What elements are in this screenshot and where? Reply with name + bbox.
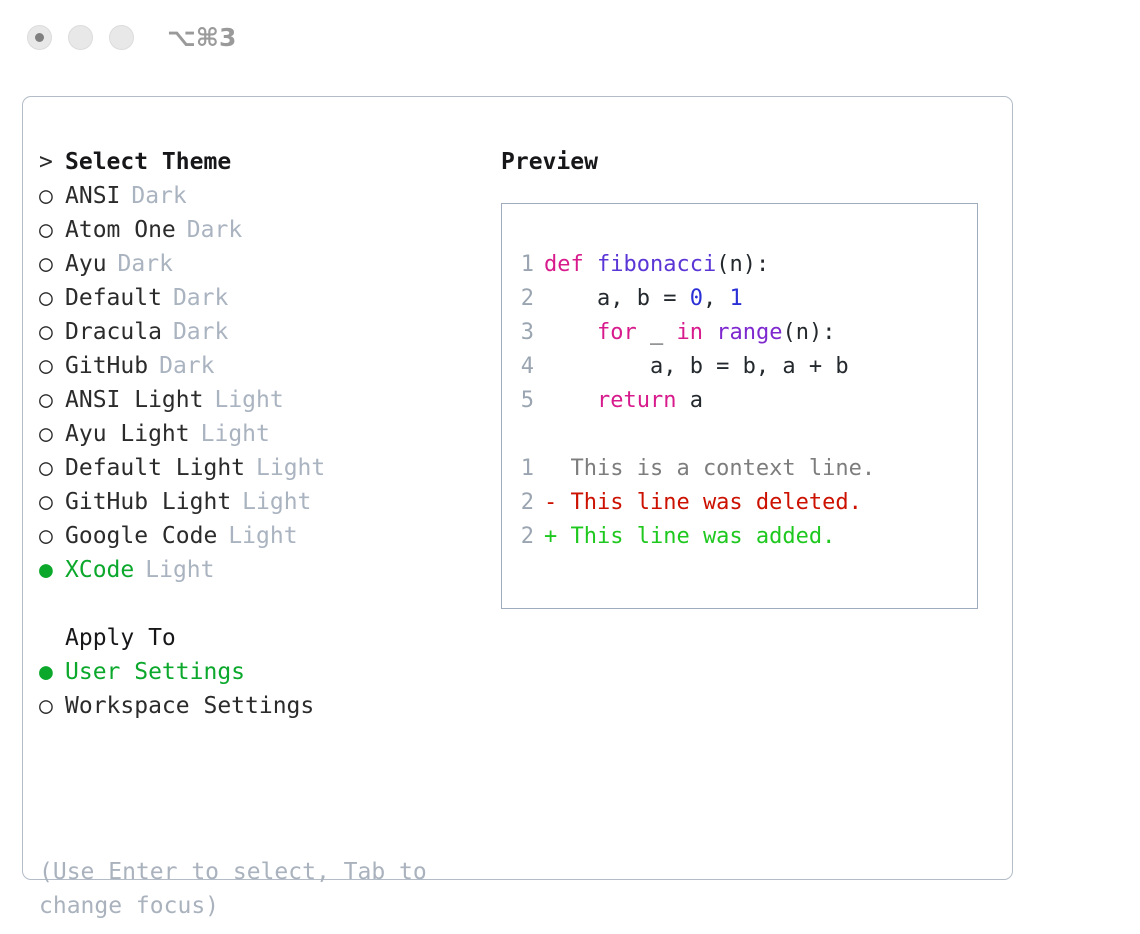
code-token: for bbox=[597, 320, 637, 345]
code-token: + This line was added. bbox=[544, 524, 835, 549]
line-number: 3 bbox=[502, 316, 544, 350]
theme-list-item[interactable]: ○ANSI LightLight bbox=[39, 383, 489, 417]
code-line: 1def fibonacci(n): bbox=[502, 248, 977, 282]
code-token: a bbox=[676, 388, 703, 413]
radio-unselected-icon[interactable]: ○ bbox=[39, 383, 65, 417]
code-token: , bbox=[703, 286, 730, 311]
code-line-text: def fibonacci(n): bbox=[544, 248, 769, 282]
code-line-text: for _ in range(n): bbox=[544, 316, 835, 350]
theme-variant-tag: Dark bbox=[187, 213, 242, 247]
apply-to-heading: Apply To bbox=[65, 621, 176, 655]
code-token: def bbox=[544, 252, 584, 277]
theme-variant-tag: Light bbox=[228, 519, 297, 553]
radio-unselected-icon[interactable]: ○ bbox=[39, 349, 65, 383]
theme-name-label: Default Light bbox=[65, 451, 245, 485]
code-line: 4 a, b = b, a + b bbox=[502, 350, 977, 384]
theme-name-label: ANSI bbox=[65, 179, 120, 213]
preview-column: Preview bbox=[501, 145, 598, 179]
theme-variant-tag: Light bbox=[242, 485, 311, 519]
theme-list-item[interactable]: ○GitHub LightLight bbox=[39, 485, 489, 519]
radio-unselected-icon[interactable]: ○ bbox=[39, 519, 65, 553]
theme-list-item[interactable]: ○DefaultDark bbox=[39, 281, 489, 315]
code-token: (n): bbox=[716, 252, 769, 277]
window-dot-third[interactable] bbox=[109, 25, 134, 50]
theme-variant-tag: Dark bbox=[173, 281, 228, 315]
theme-name-label: Ayu bbox=[65, 247, 107, 281]
code-line-text: return a bbox=[544, 384, 703, 418]
code-token: return bbox=[597, 388, 676, 413]
code-token: a, b = b, a + b bbox=[544, 354, 849, 379]
theme-variant-tag: Light bbox=[201, 417, 270, 451]
theme-name-label: XCode bbox=[65, 553, 134, 587]
code-line: 3 for _ in range(n): bbox=[502, 316, 977, 350]
code-line: 5 return a bbox=[502, 384, 977, 418]
code-sample: 1def fibonacci(n):2 a, b = 0, 13 for _ i… bbox=[502, 248, 977, 418]
code-token: in bbox=[676, 320, 703, 345]
code-token: (n): bbox=[782, 320, 835, 345]
code-token: 0 bbox=[690, 286, 703, 311]
code-token: This is a context line. bbox=[544, 456, 875, 481]
theme-variant-tag: Light bbox=[145, 553, 214, 587]
code-token bbox=[544, 388, 597, 413]
radio-selected-icon[interactable]: ● bbox=[39, 655, 65, 689]
code-token: _ bbox=[637, 320, 677, 345]
radio-unselected-icon[interactable]: ○ bbox=[39, 689, 65, 723]
radio-unselected-icon[interactable]: ○ bbox=[39, 315, 65, 349]
theme-variant-tag: Dark bbox=[118, 247, 173, 281]
window-dot-second[interactable] bbox=[68, 25, 93, 50]
theme-variant-tag: Light bbox=[256, 451, 325, 485]
theme-name-label: Ayu Light bbox=[65, 417, 190, 451]
theme-name-label: Google Code bbox=[65, 519, 217, 553]
keyboard-hint: (Use Enter to select, Tab to change focu… bbox=[39, 855, 451, 923]
line-number: 2 bbox=[502, 282, 544, 316]
theme-list-item[interactable]: ○Google CodeLight bbox=[39, 519, 489, 553]
preview-title: Preview bbox=[501, 145, 598, 179]
line-number: 5 bbox=[502, 384, 544, 418]
theme-variant-tag: Dark bbox=[173, 315, 228, 349]
radio-unselected-icon[interactable]: ○ bbox=[39, 451, 65, 485]
apply-to-label: User Settings bbox=[65, 655, 245, 689]
code-token bbox=[703, 320, 716, 345]
theme-selector-column: >Select Theme ○ANSIDark○Atom OneDark○Ayu… bbox=[39, 145, 489, 723]
prompt-caret-icon: > bbox=[39, 145, 65, 179]
code-line-text: + This line was added. bbox=[544, 520, 835, 554]
code-token: fibonacci bbox=[597, 252, 716, 277]
code-line-text: a, b = b, a + b bbox=[544, 350, 849, 384]
diff-sample: 1 This is a context line.2- This line wa… bbox=[502, 452, 977, 554]
theme-name-label: Default bbox=[65, 281, 162, 315]
radio-unselected-icon[interactable]: ○ bbox=[39, 485, 65, 519]
keyboard-shortcut-label: ⌥⌘3 bbox=[167, 23, 236, 52]
theme-list-item[interactable]: ●XCodeLight bbox=[39, 553, 489, 587]
radio-unselected-icon[interactable]: ○ bbox=[39, 417, 65, 451]
code-line-text: - This line was deleted. bbox=[544, 486, 862, 520]
window-controls bbox=[27, 25, 134, 50]
theme-list-item[interactable]: ○GitHubDark bbox=[39, 349, 489, 383]
apply-to-heading-row: ○Apply To bbox=[39, 621, 489, 655]
theme-name-label: Dracula bbox=[65, 315, 162, 349]
apply-to-marker-placeholder: ○ bbox=[39, 621, 65, 655]
line-number: 1 bbox=[502, 248, 544, 282]
theme-name-label: ANSI Light bbox=[65, 383, 203, 417]
theme-name-label: GitHub bbox=[65, 349, 148, 383]
code-token: range bbox=[716, 320, 782, 345]
window-dot-active[interactable] bbox=[27, 25, 52, 50]
main-panel: >Select Theme ○ANSIDark○Atom OneDark○Ayu… bbox=[22, 96, 1013, 880]
title-bar: ⌥⌘3 bbox=[0, 0, 1140, 78]
code-token: - This line was deleted. bbox=[544, 490, 862, 515]
page-title: Select Theme bbox=[65, 145, 231, 179]
code-token bbox=[584, 252, 597, 277]
line-number: 4 bbox=[502, 350, 544, 384]
apply-to-option[interactable]: ○Workspace Settings bbox=[39, 689, 489, 723]
theme-list-item[interactable]: ○AyuDark bbox=[39, 247, 489, 281]
app-window: ⌥⌘3 >Select Theme ○ANSIDark○Atom OneDark… bbox=[0, 0, 1140, 934]
list-spacer bbox=[39, 587, 489, 621]
theme-list-item[interactable]: ○ANSIDark bbox=[39, 179, 489, 213]
line-number: 2 bbox=[502, 520, 544, 554]
diff-line: 2- This line was deleted. bbox=[502, 486, 977, 520]
theme-name-label: GitHub Light bbox=[65, 485, 231, 519]
code-token: 1 bbox=[729, 286, 742, 311]
theme-variant-tag: Light bbox=[214, 383, 283, 417]
code-diff-gap bbox=[502, 418, 977, 452]
apply-to-list: ●User Settings○Workspace Settings bbox=[39, 655, 489, 723]
theme-name-label: Atom One bbox=[65, 213, 176, 247]
theme-variant-tag: Dark bbox=[131, 179, 186, 213]
code-token: a, b = bbox=[544, 286, 690, 311]
radio-unselected-icon[interactable]: ○ bbox=[39, 281, 65, 315]
code-line: 2 a, b = 0, 1 bbox=[502, 282, 977, 316]
apply-to-label: Workspace Settings bbox=[65, 689, 314, 723]
code-line-text: This is a context line. bbox=[544, 452, 875, 486]
radio-unselected-icon[interactable]: ○ bbox=[39, 247, 65, 281]
theme-list-item[interactable]: ○Ayu LightLight bbox=[39, 417, 489, 451]
diff-line: 1 This is a context line. bbox=[502, 452, 977, 486]
code-token bbox=[544, 320, 597, 345]
radio-selected-icon[interactable]: ● bbox=[39, 553, 65, 587]
theme-variant-tag: Dark bbox=[159, 349, 214, 383]
code-line-text: a, b = 0, 1 bbox=[544, 282, 743, 316]
line-number: 1 bbox=[502, 452, 544, 486]
radio-unselected-icon[interactable]: ○ bbox=[39, 179, 65, 213]
theme-list-item[interactable]: ○Atom OneDark bbox=[39, 213, 489, 247]
theme-list-item[interactable]: ○DraculaDark bbox=[39, 315, 489, 349]
diff-line: 2+ This line was added. bbox=[502, 520, 977, 554]
theme-list: ○ANSIDark○Atom OneDark○AyuDark○DefaultDa… bbox=[39, 179, 489, 587]
preview-code-inner: 1def fibonacci(n):2 a, b = 0, 13 for _ i… bbox=[502, 204, 977, 554]
preview-code-box: 1def fibonacci(n):2 a, b = 0, 13 for _ i… bbox=[501, 203, 978, 609]
theme-list-item[interactable]: ○Default LightLight bbox=[39, 451, 489, 485]
select-theme-header: >Select Theme bbox=[39, 145, 489, 179]
apply-to-option[interactable]: ●User Settings bbox=[39, 655, 489, 689]
line-number: 2 bbox=[502, 486, 544, 520]
window-dot-active-inner bbox=[35, 33, 44, 42]
radio-unselected-icon[interactable]: ○ bbox=[39, 213, 65, 247]
